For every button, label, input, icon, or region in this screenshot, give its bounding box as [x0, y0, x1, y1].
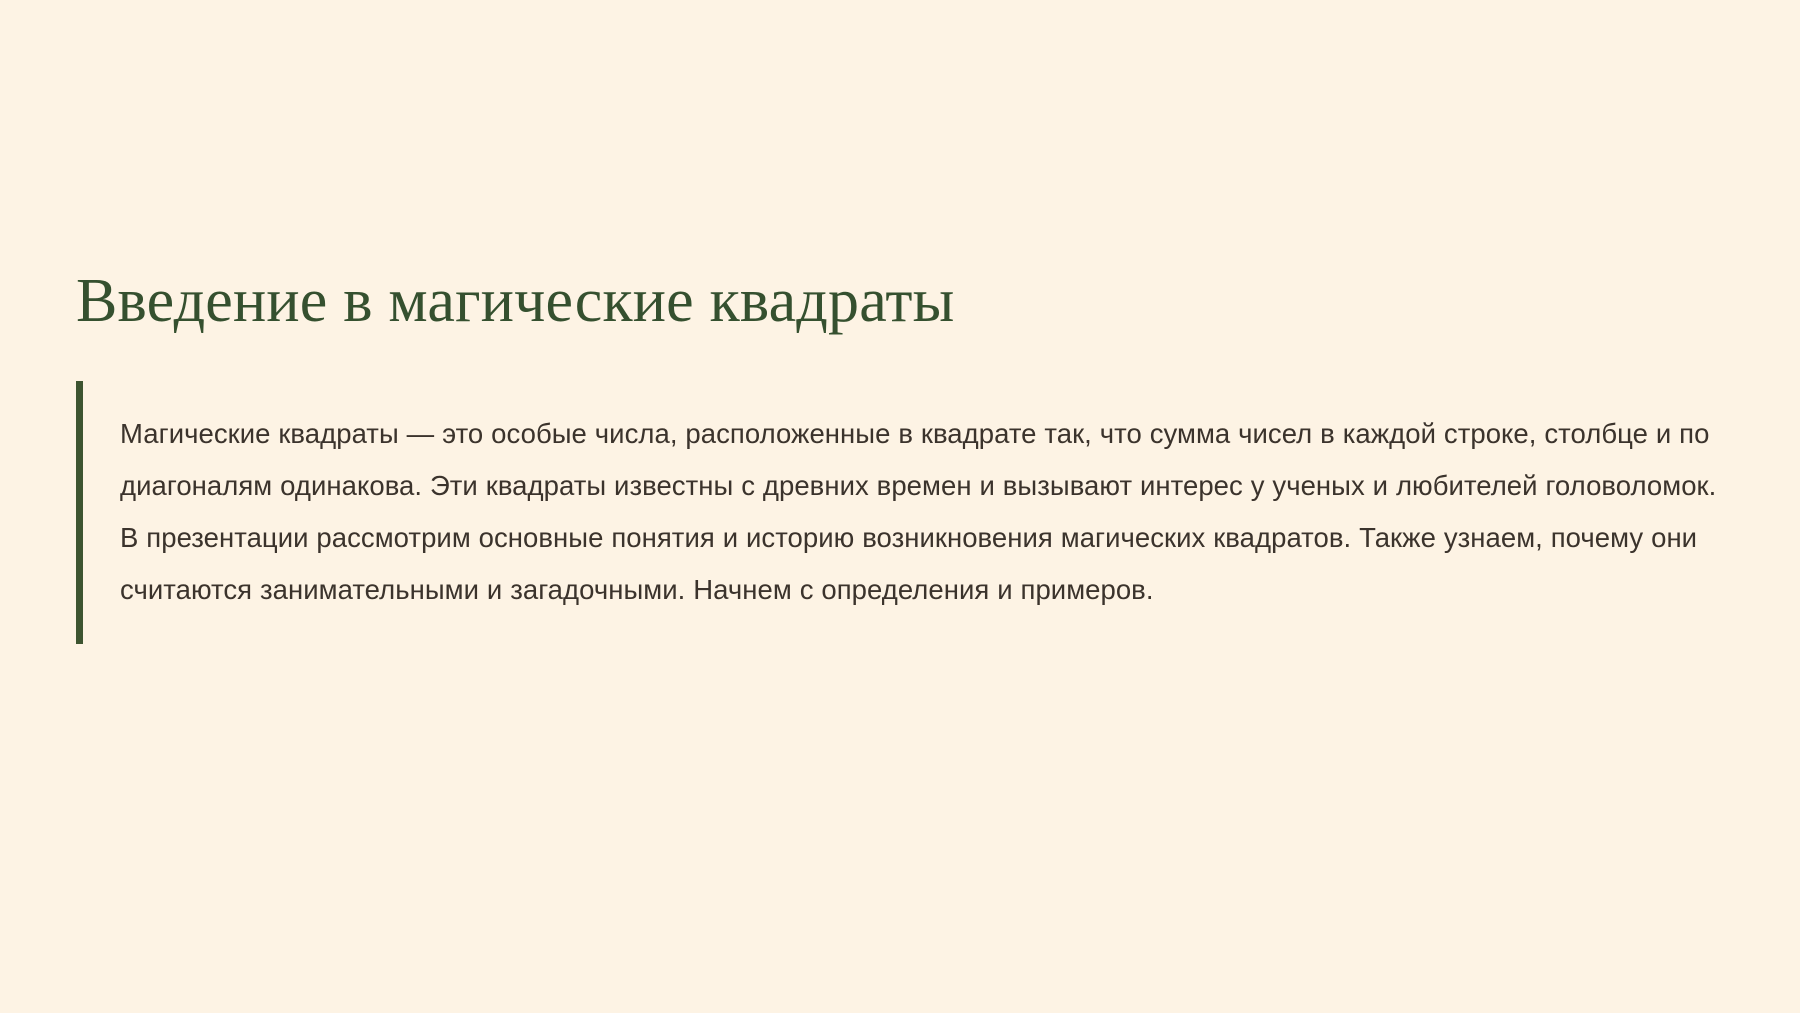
slide-content: Введение в магические квадраты Магически… [76, 268, 1736, 644]
body-quote-block: Магические квадраты — это особые числа, … [76, 381, 1736, 644]
accent-bar [76, 381, 83, 644]
slide-title: Введение в магические квадраты [76, 268, 1736, 335]
slide-body-text: Магические квадраты — это особые числа, … [83, 408, 1720, 616]
presentation-slide: Введение в магические квадраты Магически… [0, 0, 1800, 1013]
